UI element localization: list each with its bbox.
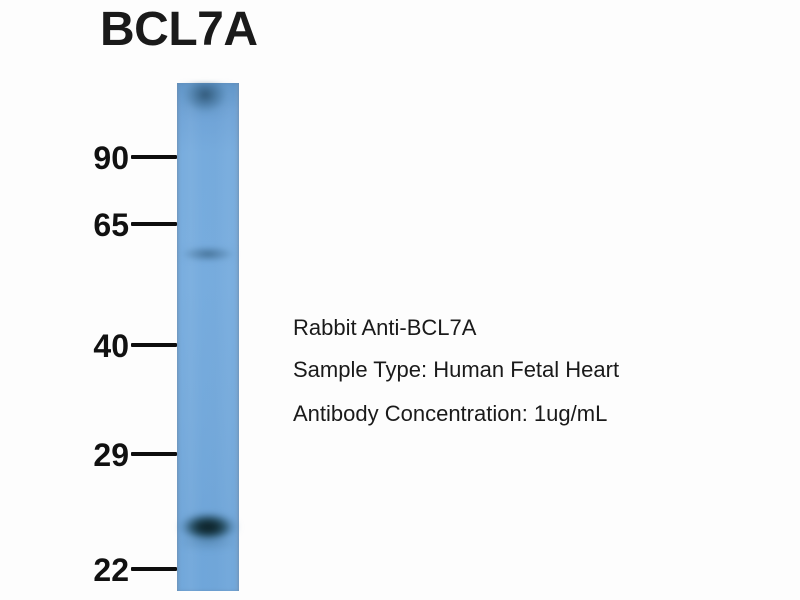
annotation-sample-type: Sample Type: Human Fetal Heart	[293, 358, 653, 383]
annotation-antibody: Rabbit Anti-BCL7A	[293, 316, 763, 341]
ladder-marker-65-label: 65	[93, 209, 129, 241]
ladder-marker-90: 90	[85, 138, 177, 172]
ladder-marker-40-dash	[131, 343, 177, 347]
ladder-marker-65-dash	[131, 222, 177, 226]
ladder-marker-90-dash	[131, 155, 177, 159]
western-blot-figure: BCL7A 90 65 40 29 22	[0, 0, 800, 600]
ladder-marker-29-dash	[131, 452, 177, 456]
ladder-marker-29: 29	[85, 435, 177, 469]
ladder-marker-29-label: 29	[93, 439, 129, 471]
ladder-marker-40: 40	[85, 326, 177, 360]
ladder-marker-22: 22	[85, 550, 177, 584]
ladder-marker-90-label: 90	[93, 142, 129, 174]
blot-lane	[177, 83, 239, 591]
annotation-antibody-concentration: Antibody Concentration: 1ug/mL	[293, 402, 763, 427]
blot-lane-membrane	[177, 83, 239, 591]
ladder-marker-22-dash	[131, 567, 177, 571]
ladder-marker-65: 65	[85, 205, 177, 239]
annotation-block: Rabbit Anti-BCL7A Sample Type: Human Fet…	[293, 316, 763, 427]
page-title: BCL7A	[100, 2, 258, 57]
ladder-marker-22-label: 22	[93, 554, 129, 586]
ladder-marker-40-label: 40	[93, 330, 129, 362]
